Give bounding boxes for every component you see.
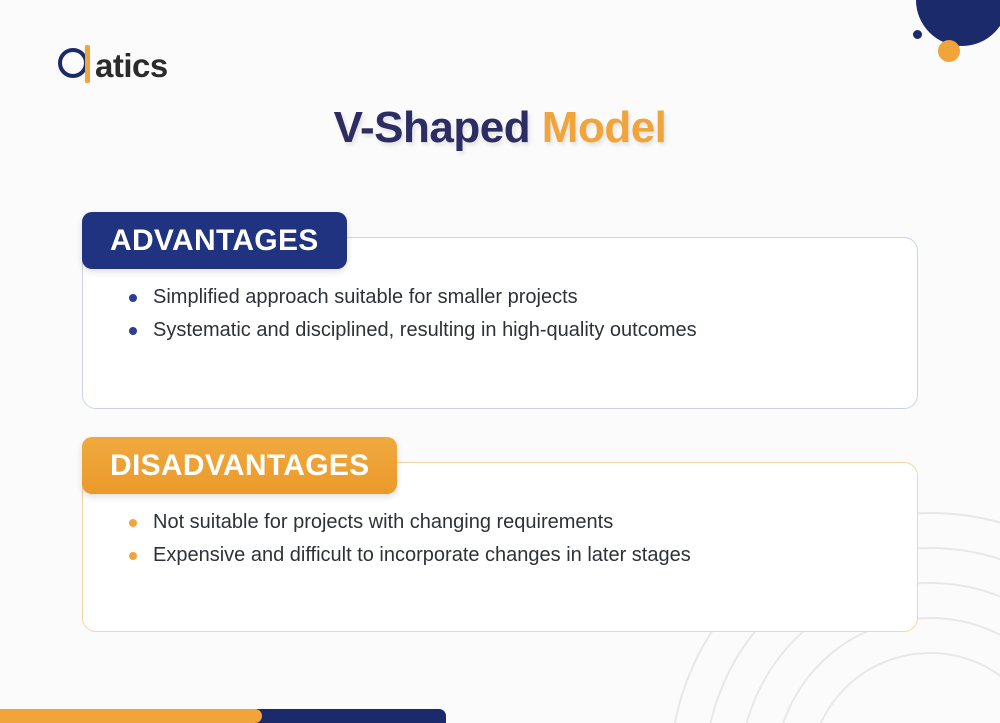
page-title: V-Shaped Model — [0, 103, 1000, 153]
decor-dot-orange — [938, 40, 960, 62]
list-item: Expensive and difficult to incorporate c… — [111, 540, 913, 571]
decor-bottom-bar-navy — [250, 709, 446, 723]
brand-logo-text: atics — [95, 49, 168, 82]
decor-dot-navy — [913, 30, 922, 39]
decor-circle-navy — [916, 0, 1000, 46]
datics-circle-logo-icon — [58, 48, 92, 82]
list-item: Simplified approach suitable for smaller… — [111, 282, 913, 313]
disadvantages-heading: DISADVANTAGES — [82, 437, 397, 494]
brand-logo: atics — [58, 42, 168, 88]
page-title-accent: Model — [542, 103, 667, 152]
list-item: Systematic and disciplined, resulting in… — [111, 315, 913, 346]
slide-canvas: atics V-Shaped Model Simplified approach… — [0, 0, 1000, 723]
disadvantages-list: Not suitable for projects with changing … — [111, 507, 917, 571]
advantages-list: Simplified approach suitable for smaller… — [111, 282, 917, 346]
decor-bottom-bar-orange — [0, 709, 262, 723]
advantages-heading: ADVANTAGES — [82, 212, 347, 269]
page-title-main: V-Shaped — [334, 103, 542, 152]
list-item: Not suitable for projects with changing … — [111, 507, 913, 538]
